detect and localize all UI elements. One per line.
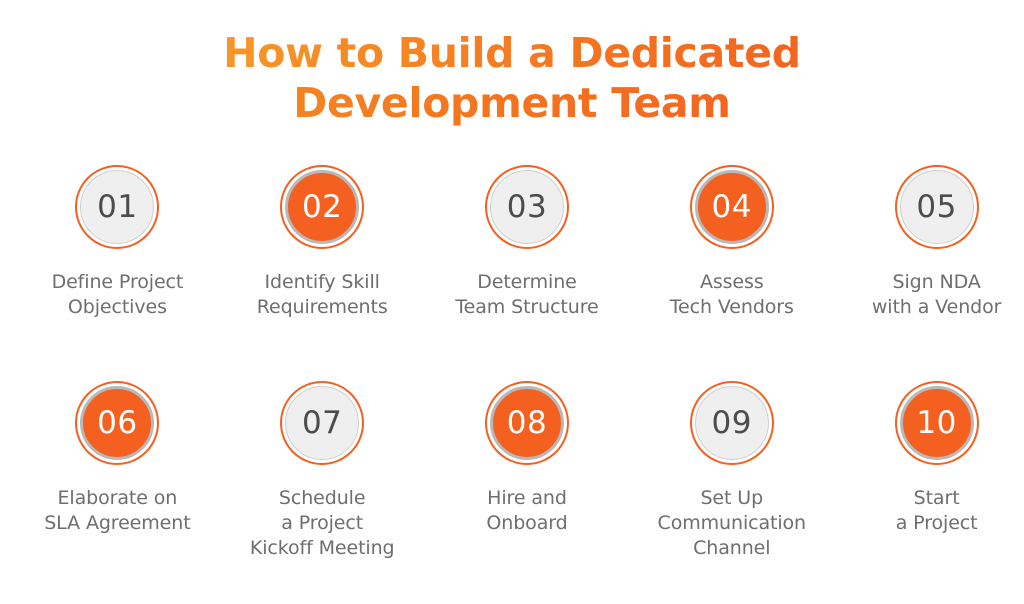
step-label-05: Sign NDA with a Vendor [872, 270, 1001, 320]
step-circle-03[interactable]: 03 [485, 165, 569, 249]
step-item-08[interactable]: 08 Hire and Onboard [440, 381, 615, 561]
step-label-06: Elaborate on SLA Agreement [44, 486, 190, 536]
step-label-04: Assess Tech Vendors [670, 270, 794, 320]
step-number-04: 04 [712, 192, 752, 223]
title-line-2: Development Team [0, 78, 1024, 128]
step-circle-05[interactable]: 05 [895, 165, 979, 249]
step-row-first: 01 Define Project Objectives 02 Identify… [0, 165, 1024, 320]
step-label-08: Hire and Onboard [486, 486, 567, 536]
step-number-09: 09 [712, 408, 752, 439]
step-label-10: Start a Project [896, 486, 978, 536]
step-circle-10[interactable]: 10 [895, 381, 979, 465]
step-item-03[interactable]: 03 Determine Team Structure [440, 165, 615, 320]
step-label-02: Identify Skill Requirements [257, 270, 388, 320]
step-circle-06[interactable]: 06 [75, 381, 159, 465]
step-circle-09[interactable]: 09 [690, 381, 774, 465]
step-number-01: 01 [97, 192, 137, 223]
infographic-card: How to Build a Dedicated Development Tea… [0, 0, 1024, 604]
step-circle-02[interactable]: 02 [280, 165, 364, 249]
step-item-07[interactable]: 07 Schedule a Project Kickoff Meeting [235, 381, 410, 561]
step-item-06[interactable]: 06 Elaborate on SLA Agreement [30, 381, 205, 561]
step-item-05[interactable]: 05 Sign NDA with a Vendor [849, 165, 1024, 320]
step-circle-01[interactable]: 01 [75, 165, 159, 249]
step-number-03: 03 [507, 192, 547, 223]
step-row-second: 06 Elaborate on SLA Agreement 07 Schedul… [0, 381, 1024, 561]
step-circle-08[interactable]: 08 [485, 381, 569, 465]
step-number-08: 08 [507, 408, 547, 439]
step-item-04[interactable]: 04 Assess Tech Vendors [644, 165, 819, 320]
step-item-02[interactable]: 02 Identify Skill Requirements [235, 165, 410, 320]
step-number-02: 02 [302, 192, 342, 223]
step-number-05: 05 [916, 192, 956, 223]
step-number-06: 06 [97, 408, 137, 439]
step-item-01[interactable]: 01 Define Project Objectives [30, 165, 205, 320]
step-circle-04[interactable]: 04 [690, 165, 774, 249]
title-line-1: How to Build a Dedicated [0, 28, 1024, 78]
step-number-10: 10 [916, 408, 956, 439]
step-label-01: Define Project Objectives [52, 270, 184, 320]
page-title: How to Build a Dedicated Development Tea… [0, 28, 1024, 128]
step-number-07: 07 [302, 408, 342, 439]
step-label-03: Determine Team Structure [455, 270, 598, 320]
step-item-09[interactable]: 09 Set Up Communication Channel [644, 381, 819, 561]
step-label-09: Set Up Communication Channel [658, 486, 806, 561]
step-item-10[interactable]: 10 Start a Project [849, 381, 1024, 561]
step-circle-07[interactable]: 07 [280, 381, 364, 465]
step-label-07: Schedule a Project Kickoff Meeting [250, 486, 395, 561]
